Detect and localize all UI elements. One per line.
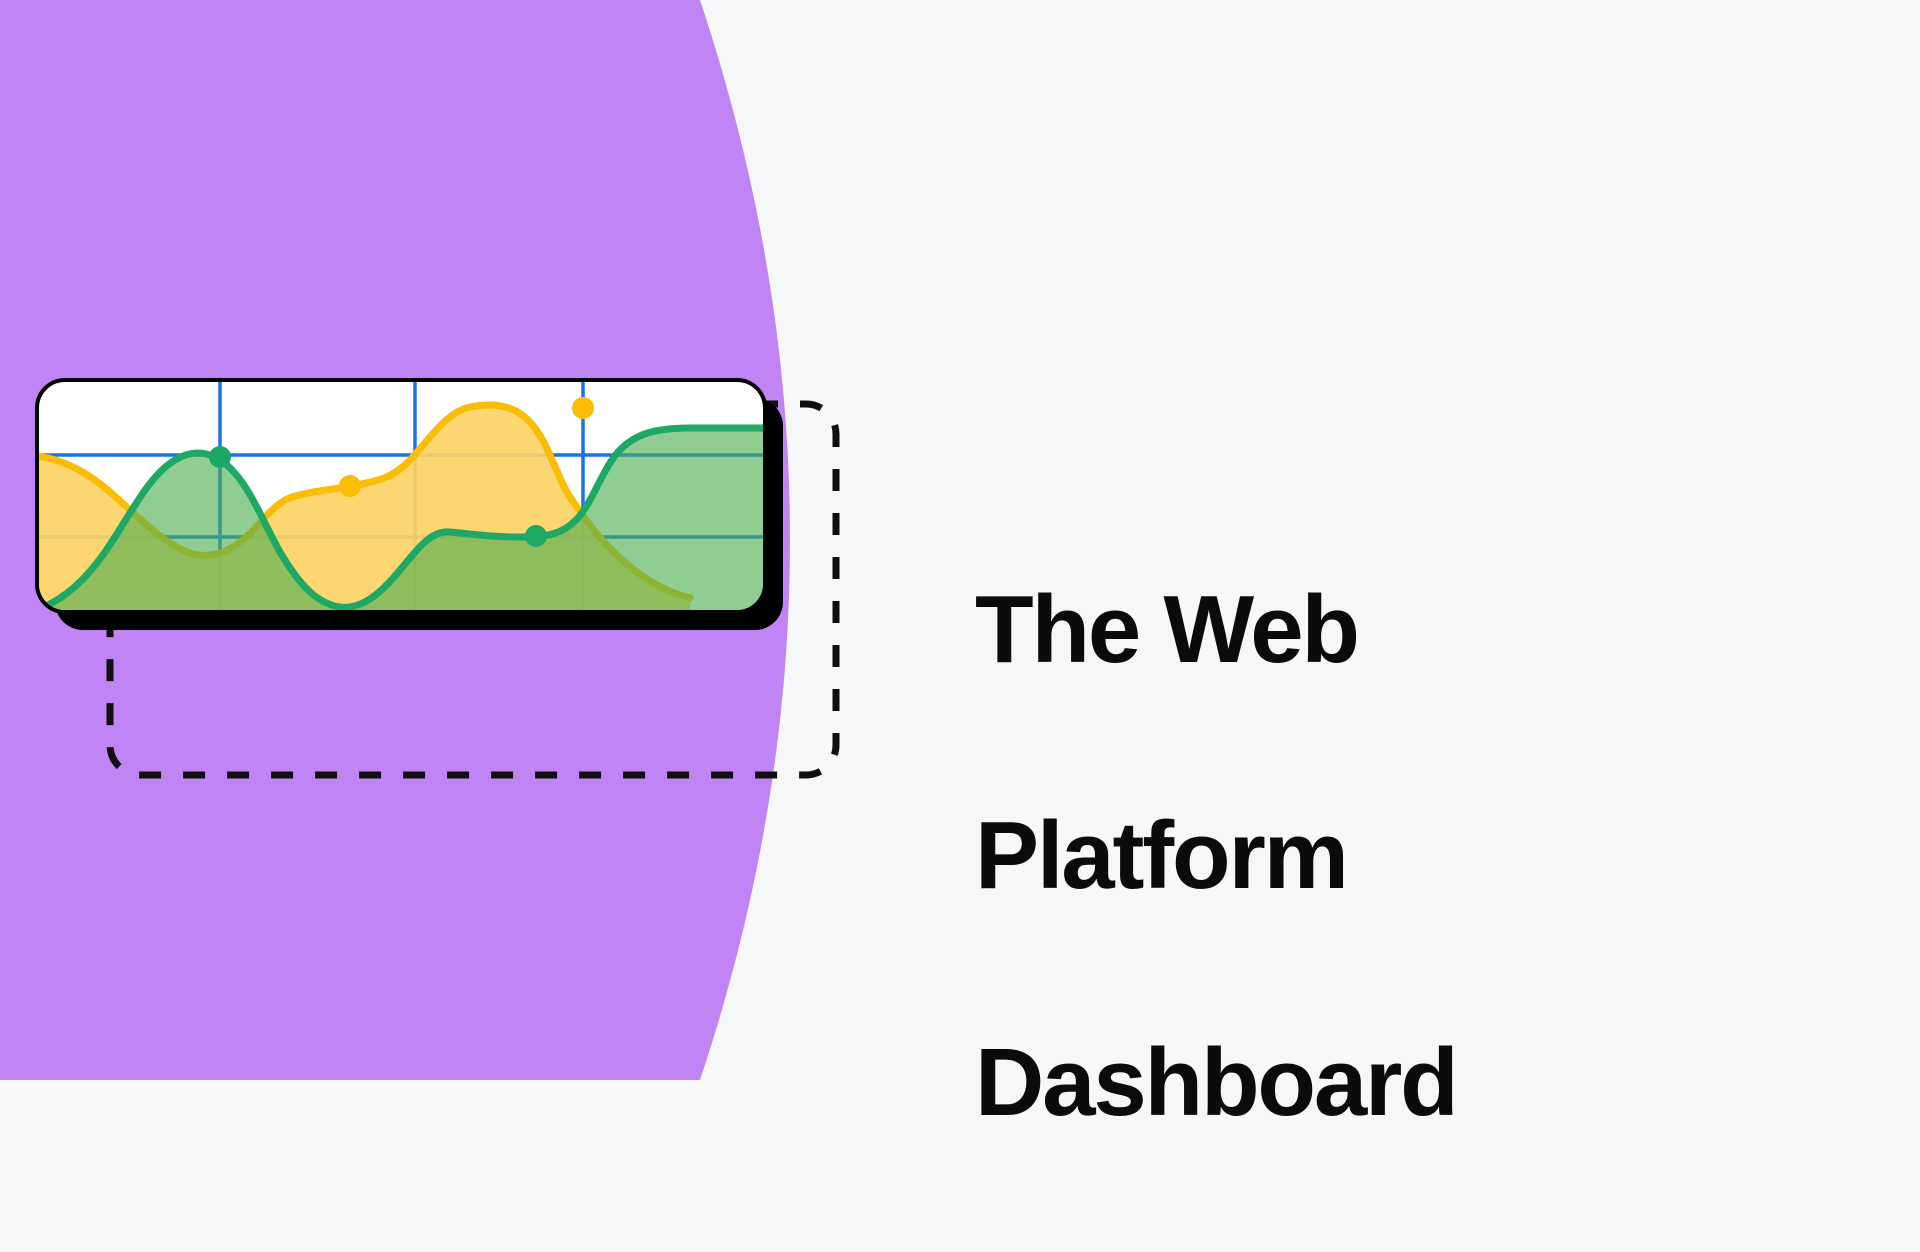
hero-stage: The Web Platform Dashboard — [0, 0, 1920, 1080]
page-title-line-1: The Web — [975, 573, 1795, 686]
data-point-green-2[interactable] — [525, 525, 547, 547]
data-point-green-1[interactable] — [209, 446, 231, 468]
page-title: The Web Platform Dashboard — [975, 459, 1795, 1252]
page-title-line-2: Platform — [975, 799, 1795, 912]
page-title-line-3: Dashboard — [975, 1026, 1795, 1139]
data-point-yellow-2[interactable] — [572, 397, 594, 419]
data-point-yellow-1[interactable] — [339, 475, 361, 497]
